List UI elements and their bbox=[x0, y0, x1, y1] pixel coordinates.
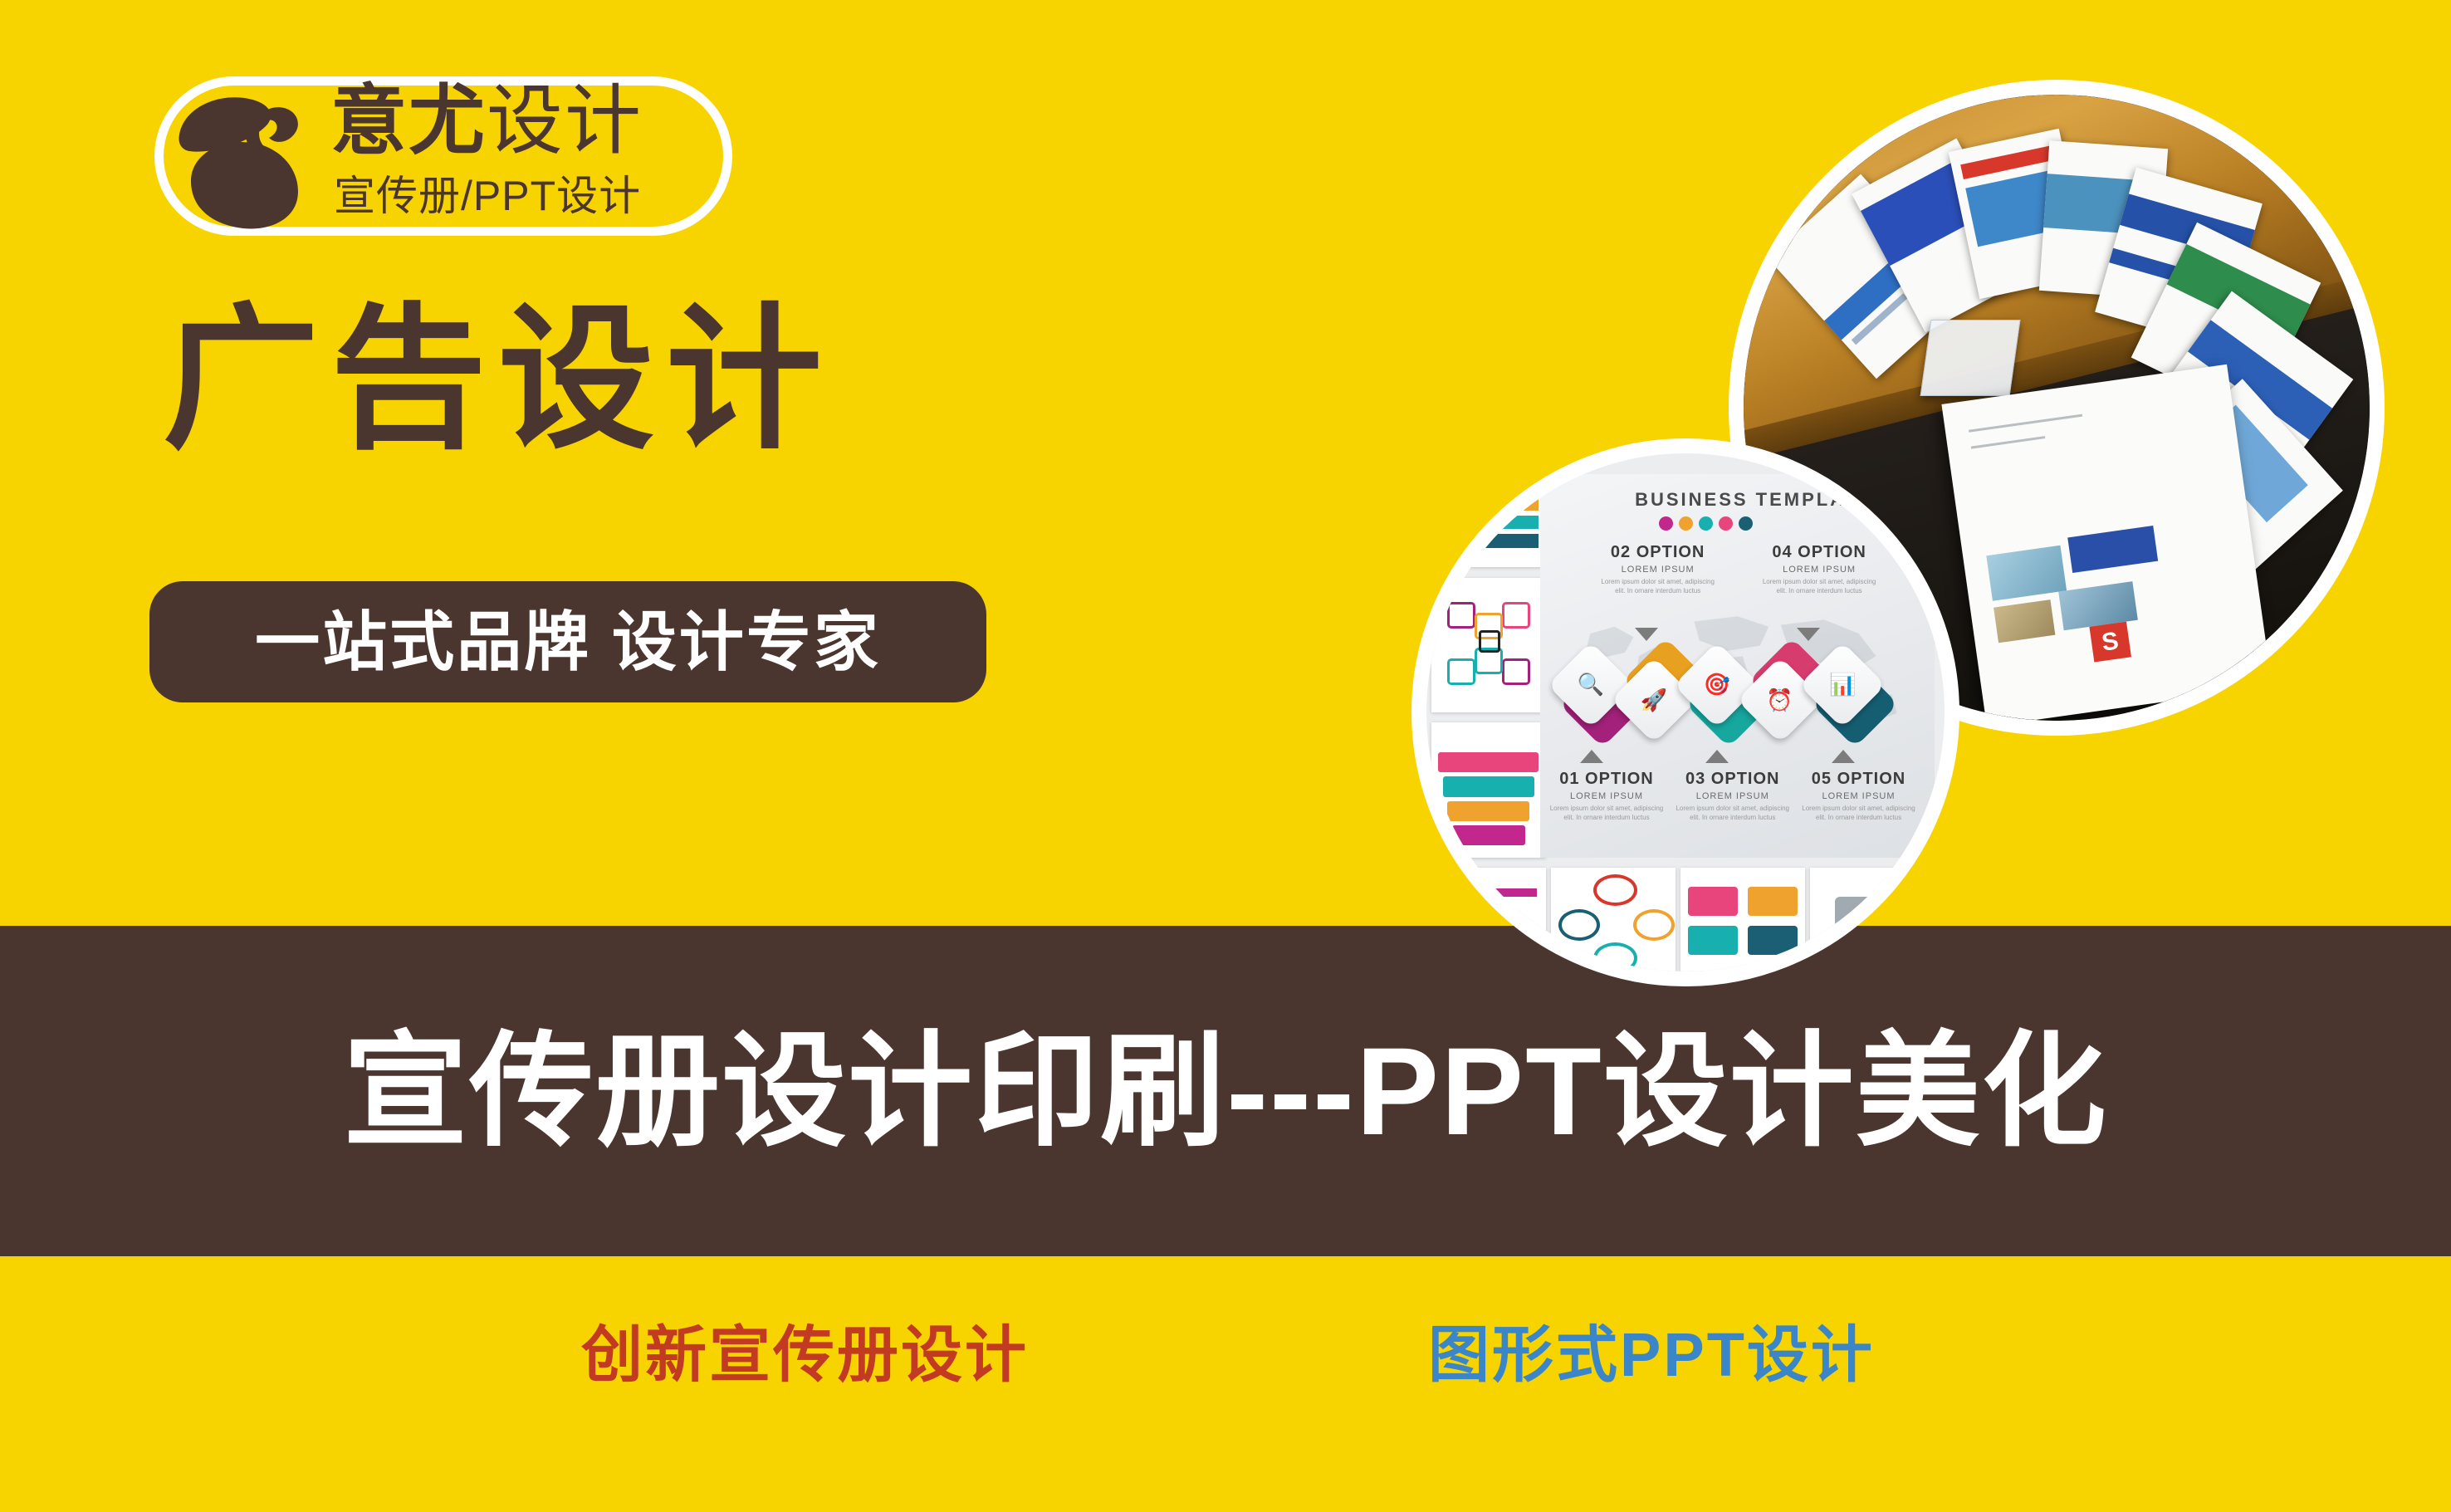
template-thumbnail bbox=[1431, 578, 1545, 712]
ppt-option-sub: LOREM IPSUM bbox=[1797, 791, 1921, 801]
caption-left: 创新宣传册设计 bbox=[581, 1321, 1029, 1389]
ppt-option-num: 05 OPTION bbox=[1797, 770, 1921, 789]
brochure-s-logo: S bbox=[2089, 622, 2131, 663]
logo-title: 意尤设计 bbox=[330, 81, 643, 161]
ppt-option: 05 OPTION LOREM IPSUM Lorem ipsum dolor … bbox=[1797, 770, 1921, 822]
ppt-option-num: 02 OPTION bbox=[1596, 543, 1720, 562]
ppt-option-body: Lorem ipsum dolor sit amet, adipiscing e… bbox=[1797, 804, 1921, 822]
ppt-option-body: Lorem ipsum dolor sit amet, adipiscing e… bbox=[1596, 577, 1720, 595]
ppt-option-sub: LOREM IPSUM bbox=[1544, 791, 1669, 801]
target-icon: 🎯 bbox=[1686, 654, 1748, 716]
tagline-text: 一站式品牌 设计专家 bbox=[255, 608, 881, 676]
template-thumbnail bbox=[1431, 868, 1545, 971]
front-brochure: S bbox=[1941, 365, 2272, 721]
template-thumbnail bbox=[1431, 722, 1545, 857]
ppt-option: 02 OPTION LOREM IPSUM Lorem ipsum dolor … bbox=[1596, 543, 1720, 595]
ppt-option: 04 OPTION LOREM IPSUM Lorem ipsum dolor … bbox=[1757, 543, 1881, 595]
ppt-option-num: 03 OPTION bbox=[1671, 770, 1795, 789]
template-thumbnail bbox=[1551, 868, 1676, 971]
logo-text-block: 意尤设计 宣传册/PPT设计 bbox=[330, 80, 721, 234]
tagline-pill: 一站式品牌 设计专家 bbox=[149, 581, 986, 702]
ppt-collage-inner: BUSINESS TEMPLATE 02 OPTION LOREM IPSUM … bbox=[1426, 453, 1945, 971]
ppt-template-collage: BUSINESS TEMPLATE 02 OPTION LOREM IPSUM … bbox=[1411, 438, 1959, 986]
chevron-up-icon bbox=[1580, 750, 1603, 763]
chevron-down-icon bbox=[1635, 628, 1658, 641]
brochure-photo-tile bbox=[1994, 599, 2056, 643]
brochure-photo-tile bbox=[1986, 546, 2067, 601]
ppt-option-num: 01 OPTION bbox=[1544, 770, 1669, 789]
logo-subtitle: 宣传册/PPT设计 bbox=[334, 173, 641, 219]
page-title: 广告设计 bbox=[163, 301, 834, 458]
caption-row: 创新宣传册设计 图形式PPT设计 bbox=[0, 1256, 2451, 1512]
logo-title-thin: 设计 bbox=[487, 79, 643, 164]
magnifier-icon: 🔍 bbox=[1560, 654, 1622, 716]
headline-band: 宣传册设计印刷---PPT设计美化 bbox=[0, 926, 2451, 1256]
ppt-option-sub: LOREM IPSUM bbox=[1671, 791, 1795, 801]
ppt-option-sub: LOREM IPSUM bbox=[1757, 565, 1881, 575]
ppt-sheet-title: BUSINESS TEMPLATE bbox=[1635, 489, 1873, 511]
template-thumbnail bbox=[1810, 868, 1935, 971]
ppt-option-num: 04 OPTION bbox=[1757, 543, 1881, 562]
ppt-main-sheet: BUSINESS TEMPLATE 02 OPTION LOREM IPSUM … bbox=[1540, 474, 1934, 858]
chevron-up-icon bbox=[1832, 750, 1855, 763]
template-thumbnail bbox=[1680, 868, 1805, 971]
ppt-option-sub: LOREM IPSUM bbox=[1596, 565, 1720, 575]
headline-band-text: 宣传册设计印刷---PPT设计美化 bbox=[343, 1025, 2108, 1157]
leaf-seed-mark-icon bbox=[166, 83, 324, 232]
chevron-down-icon bbox=[1797, 628, 1820, 641]
ppt-option: 03 OPTION LOREM IPSUM Lorem ipsum dolor … bbox=[1671, 770, 1795, 822]
caption-right: 图形式PPT设计 bbox=[1428, 1321, 1875, 1389]
ppt-dot-row bbox=[1659, 516, 1753, 531]
banner-canvas: 意尤设计 宣传册/PPT设计 广告设计 一站式品牌 设计专家 bbox=[0, 0, 2451, 1512]
logo-title-bold: 意尤 bbox=[330, 79, 487, 164]
ppt-option: 01 OPTION LOREM IPSUM Lorem ipsum dolor … bbox=[1544, 770, 1669, 822]
ppt-option-body: Lorem ipsum dolor sit amet, adipiscing e… bbox=[1544, 804, 1669, 822]
template-thumbnail bbox=[1431, 463, 1545, 567]
ppt-option-body: Lorem ipsum dolor sit amet, adipiscing e… bbox=[1671, 804, 1795, 822]
business-card-holder bbox=[1920, 320, 2020, 396]
ppt-option-body: Lorem ipsum dolor sit amet, adipiscing e… bbox=[1757, 577, 1881, 595]
chevron-up-icon bbox=[1705, 750, 1729, 763]
chart-box-icon: 📊 bbox=[1812, 654, 1873, 716]
alarm-clock-icon: ⏰ bbox=[1749, 669, 1811, 731]
brochure-photo-tile bbox=[2067, 526, 2158, 573]
rocket-icon: 🚀 bbox=[1623, 669, 1685, 731]
